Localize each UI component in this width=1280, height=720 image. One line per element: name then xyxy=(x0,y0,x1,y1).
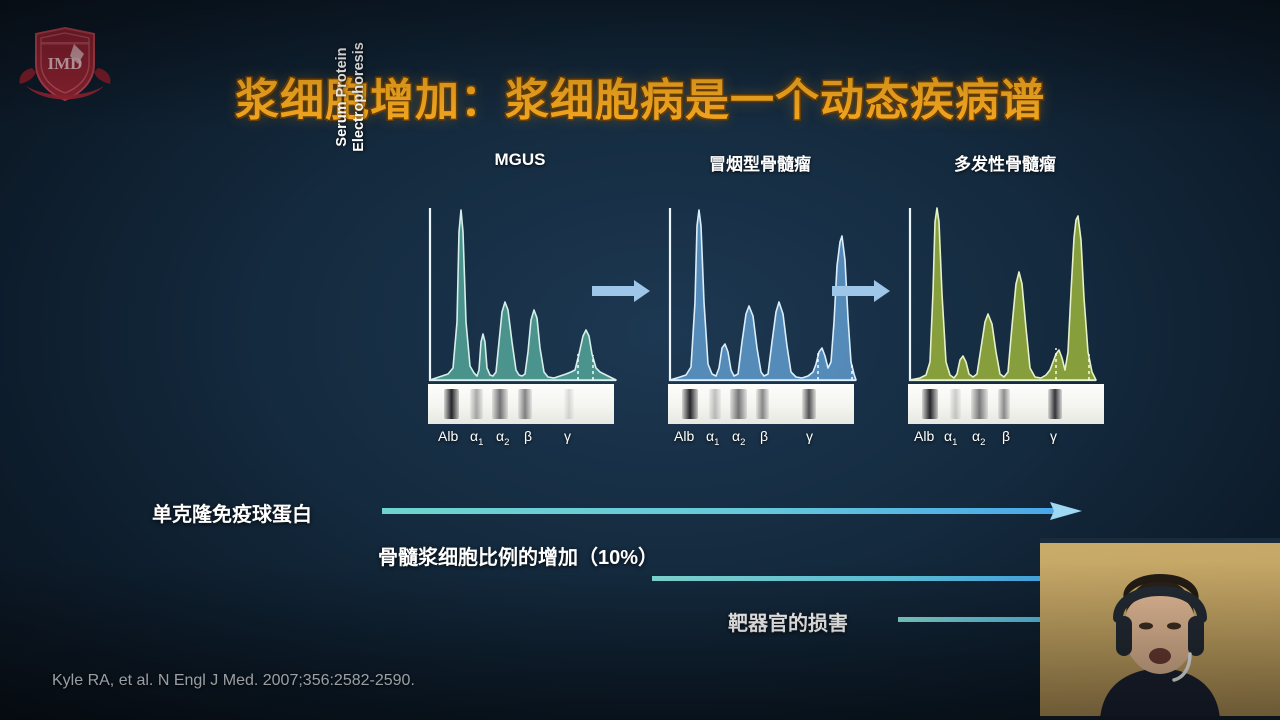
tick-alpha2: α2 xyxy=(972,428,985,448)
stage-progression-arrow-1 xyxy=(592,278,652,304)
citation-text: Kyle RA, et al. N Engl J Med. 2007;356:2… xyxy=(52,672,415,690)
slide-canvas: IMD 浆细胞增加：浆细胞病是一个动态疾病谱 Serum Protein Ele… xyxy=(0,0,1280,720)
tick-labels-mgus: Alb α1 α2 β γ xyxy=(420,428,620,452)
tick-alpha1: α1 xyxy=(706,428,719,448)
annotation-label-organ-damage: 靶器官的损害 xyxy=(728,607,848,636)
densitometry-trace-mgus xyxy=(420,202,620,387)
tick-alb: Alb xyxy=(438,428,458,444)
chart-panel-smoldering: Alb α1 α2 β γ xyxy=(660,202,860,460)
annotation-arrow-monoclonal xyxy=(382,500,1084,522)
column-header-myeloma: 多发性骨髓瘤 xyxy=(900,150,1110,175)
column-header-mgus: MGUS xyxy=(420,150,620,170)
tick-alpha1: α1 xyxy=(470,428,483,448)
tick-beta: β xyxy=(760,428,768,444)
gel-strip-myeloma xyxy=(908,384,1104,424)
tick-labels-myeloma: Alb α1 α2 β γ xyxy=(900,428,1110,452)
column-header-smoldering: 冒烟型骨髓瘤 xyxy=(660,150,860,175)
page-title: 浆细胞增加：浆细胞病是一个动态疾病谱 xyxy=(0,64,1280,128)
electrophoresis-figure: Serum Protein Electrophoresis MGUS 冒烟型骨髓… xyxy=(340,150,1120,460)
webcam-bottom-border xyxy=(1040,716,1280,720)
y-axis-label: Serum Protein Electrophoresis xyxy=(337,2,365,192)
stage-progression-arrow-2 xyxy=(832,278,892,304)
y-axis-label-line2: Electrophoresis xyxy=(351,2,368,192)
tick-alb: Alb xyxy=(674,428,694,444)
tick-beta: β xyxy=(1002,428,1010,444)
chart-panel-myeloma: Alb α1 α2 β γ xyxy=(900,202,1110,460)
tick-beta: β xyxy=(524,428,532,444)
densitometry-trace-myeloma xyxy=(900,202,1100,387)
presenter-figure-icon xyxy=(1040,538,1280,720)
presenter-video-feed[interactable] xyxy=(1040,538,1280,720)
gel-strip-smoldering xyxy=(668,384,854,424)
annotation-arrow-plasma-cells xyxy=(652,567,1084,589)
annotation-label-monoclonal: 单克隆免疫球蛋白 xyxy=(152,498,312,527)
tick-alpha2: α2 xyxy=(496,428,509,448)
tick-gamma: γ xyxy=(806,428,813,444)
tick-alpha2: α2 xyxy=(732,428,745,448)
tick-alpha1: α1 xyxy=(944,428,957,448)
tick-gamma: γ xyxy=(1050,428,1057,444)
annotation-row-monoclonal: 单克隆免疫球蛋白 xyxy=(152,497,312,527)
tick-alb: Alb xyxy=(914,428,934,444)
tick-gamma: γ xyxy=(564,428,571,444)
annotation-label-plasma-cells: 骨髓浆细胞比例的增加（10%） xyxy=(378,541,658,570)
annotation-row-organ-damage: 靶器官的损害 xyxy=(728,606,848,636)
webcam-top-border xyxy=(1040,538,1280,543)
chart-panel-mgus: Alb α1 α2 β γ xyxy=(420,202,620,460)
densitometry-trace-smoldering xyxy=(660,202,860,387)
annotation-row-plasma-cells: 骨髓浆细胞比例的增加（10%） xyxy=(378,540,658,570)
y-axis-label-line1: Serum Protein xyxy=(334,2,351,192)
gel-strip-mgus xyxy=(428,384,614,424)
tick-labels-smoldering: Alb α1 α2 β γ xyxy=(660,428,860,452)
